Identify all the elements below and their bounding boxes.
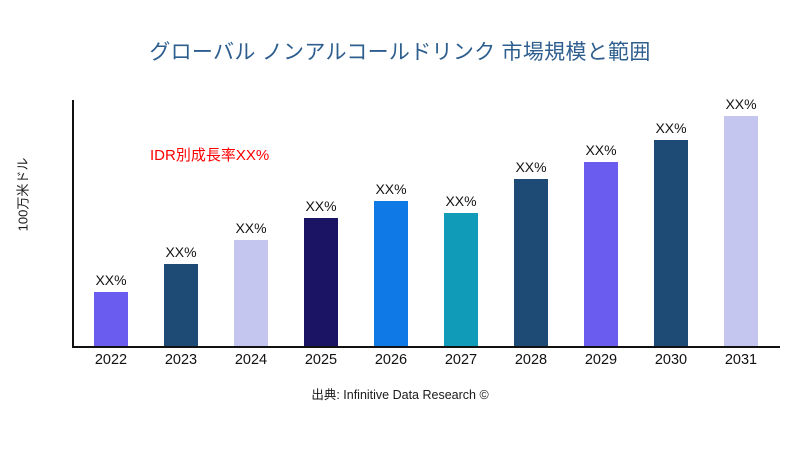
x-axis-line	[72, 346, 780, 348]
bar-value-label: XX%	[288, 198, 354, 214]
bar-value-label: XX%	[218, 220, 284, 236]
bar-rect[interactable]	[514, 179, 548, 346]
x-tick-2024: 2024	[218, 352, 284, 368]
chart-container: グローバル ノンアルコールドリンク 市場規模と範囲 100万米ドル IDR別成長…	[0, 0, 800, 450]
plot-area: IDR別成長率XX% XX%XX%XX%XX%XX%XX%XX%XX%XX%XX…	[72, 100, 780, 348]
bar-2028[interactable]: XX%	[514, 179, 548, 346]
x-tick-2029: 2029	[568, 352, 634, 368]
bar-rect[interactable]	[724, 116, 758, 346]
bar-2025[interactable]: XX%	[304, 218, 338, 346]
bar-rect[interactable]	[94, 292, 128, 346]
chart-title: グローバル ノンアルコールドリンク 市場規模と範囲	[0, 36, 800, 66]
bar-rect[interactable]	[304, 218, 338, 346]
x-tick-2030: 2030	[638, 352, 704, 368]
y-axis-label: 100万米ドル	[13, 125, 32, 265]
bar-2030[interactable]: XX%	[654, 140, 688, 346]
bar-value-label: XX%	[708, 96, 774, 112]
bar-value-label: XX%	[358, 181, 424, 197]
bar-value-label: XX%	[428, 193, 494, 209]
x-tick-2031: 2031	[708, 352, 774, 368]
bar-rect[interactable]	[234, 240, 268, 346]
bar-2024[interactable]: XX%	[234, 240, 268, 346]
bar-2026[interactable]: XX%	[374, 201, 408, 346]
bar-2023[interactable]: XX%	[164, 264, 198, 346]
bar-rect[interactable]	[164, 264, 198, 346]
bar-rect[interactable]	[374, 201, 408, 346]
x-tick-2023: 2023	[148, 352, 214, 368]
bar-value-label: XX%	[498, 159, 564, 175]
bar-rect[interactable]	[584, 162, 618, 346]
bar-2031[interactable]: XX%	[724, 116, 758, 346]
x-axis-tick-labels: 2022202320242025202620272028202920302031	[72, 352, 780, 374]
source-note: 出典: Infinitive Data Research ©	[0, 384, 800, 403]
growth-rate-annotation: IDR別成長率XX%	[150, 144, 269, 165]
x-tick-2027: 2027	[428, 352, 494, 368]
bar-2029[interactable]: XX%	[584, 162, 618, 346]
bar-value-label: XX%	[78, 272, 144, 288]
x-tick-2026: 2026	[358, 352, 424, 368]
bar-2027[interactable]: XX%	[444, 213, 478, 346]
y-axis-line	[72, 100, 74, 348]
bar-value-label: XX%	[568, 142, 634, 158]
x-tick-2022: 2022	[78, 352, 144, 368]
bar-2022[interactable]: XX%	[94, 292, 128, 346]
x-tick-2028: 2028	[498, 352, 564, 368]
bar-rect[interactable]	[444, 213, 478, 346]
bar-rect[interactable]	[654, 140, 688, 346]
bar-value-label: XX%	[148, 244, 214, 260]
bar-value-label: XX%	[638, 120, 704, 136]
x-tick-2025: 2025	[288, 352, 354, 368]
